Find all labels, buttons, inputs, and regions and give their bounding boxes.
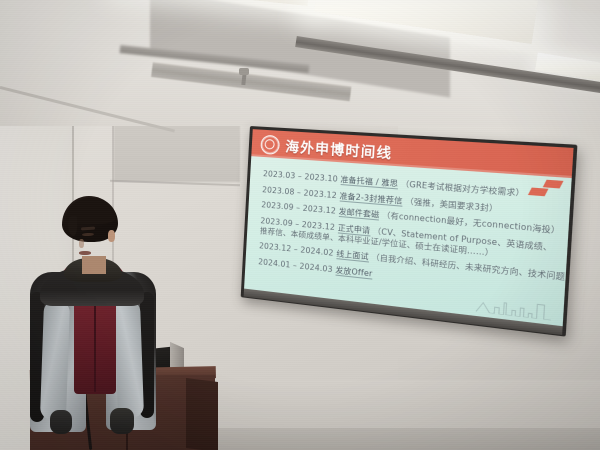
timeline-action: 发邮件套磁 xyxy=(338,207,379,221)
hand-left xyxy=(50,410,72,434)
screen-frame: 海外申博时间线 2023.03 – 2023.10 准备托福 / 雅思 （GRE… xyxy=(241,126,578,337)
lectern-side-panel xyxy=(186,378,218,450)
timeline-action: 准备托福 / 雅思 xyxy=(340,175,398,190)
timeline-date: 2023.09 – 2023.12 xyxy=(261,200,336,216)
sprinkler-head-icon xyxy=(239,68,249,75)
timeline-date: 2024.01 – 2024.03 xyxy=(258,257,333,274)
timeline-action: 线上面试 xyxy=(336,249,369,263)
timeline-date: 2023.12 – 2024.02 xyxy=(259,241,334,258)
hand-right xyxy=(110,408,134,434)
mouth xyxy=(79,251,91,255)
projection-screen[interactable]: 海外申博时间线 2023.03 – 2023.10 准备托福 / 雅思 （GRE… xyxy=(250,126,556,326)
nose xyxy=(79,239,84,248)
photo-scene: 海外申博时间线 2023.03 – 2023.10 准备托福 / 雅思 （GRE… xyxy=(0,0,600,450)
timeline-note: （强推，美国要求3封） xyxy=(405,196,498,213)
timeline-date: 2023.03 – 2023.10 xyxy=(263,169,338,184)
university-emblem-icon xyxy=(260,135,280,155)
jacket-sleeve-left xyxy=(40,300,70,421)
presenter xyxy=(24,196,156,450)
timeline-date: 2023.08 – 2023.12 xyxy=(262,185,337,200)
timeline-note: （GRE考试根据对方学校需求） xyxy=(401,179,525,198)
timeline-action: 发放Offer xyxy=(335,265,373,279)
jacket-sleeve-right xyxy=(114,300,144,419)
ear xyxy=(108,230,115,242)
sideburn xyxy=(68,216,77,236)
slide-title: 海外申博时间线 xyxy=(285,135,393,162)
timeline-action: 准备2-3封推荐信 xyxy=(339,191,403,207)
